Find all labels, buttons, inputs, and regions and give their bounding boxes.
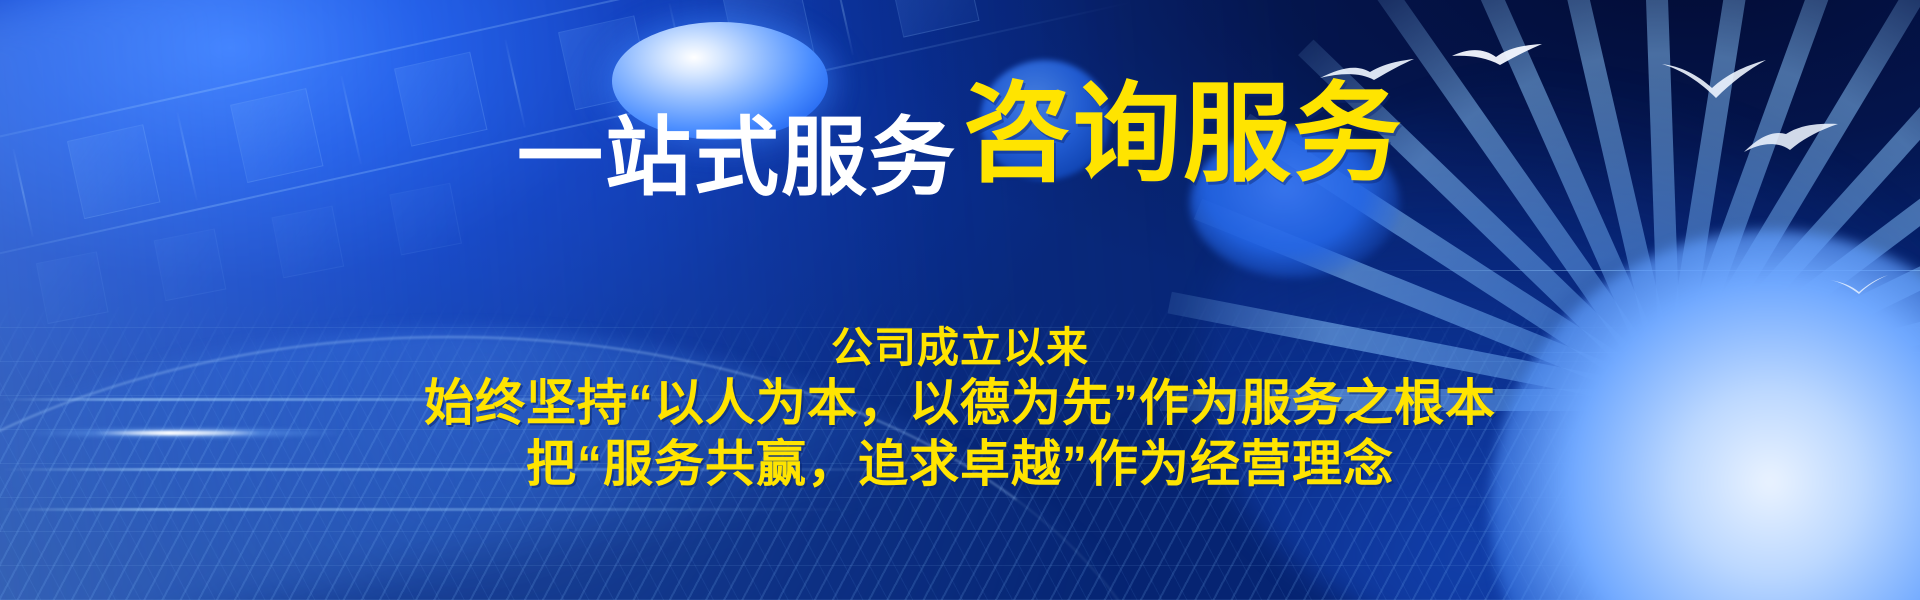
filmstrip-cell: [886, 0, 979, 38]
filmstrip-cell: [154, 228, 227, 301]
body-copy: 公司成立以来 始终坚持“以人为本，以德为先”作为服务之根本 把“服务共赢，追求卓…: [0, 322, 1920, 495]
promo-banner: 一站式服务咨询服务 公司成立以来 始终坚持“以人为本，以德为先”作为服务之根本 …: [0, 0, 1920, 600]
body-line-3: 把“服务共赢，追求卓越”作为经营理念: [0, 434, 1920, 495]
headline: 一站式服务咨询服务: [0, 96, 1920, 204]
body-line-2: 始终坚持“以人为本，以德为先”作为服务之根本: [0, 373, 1920, 434]
headline-yellow-text: 咨询服务: [963, 73, 1403, 194]
background-band: [0, 508, 860, 511]
body-line-1: 公司成立以来: [0, 322, 1920, 373]
seagull-icon: [1828, 272, 1890, 296]
headline-white-text: 一站式服务: [517, 110, 957, 206]
filmstrip-cell: [271, 206, 344, 279]
seagull-icon: [1450, 42, 1550, 74]
